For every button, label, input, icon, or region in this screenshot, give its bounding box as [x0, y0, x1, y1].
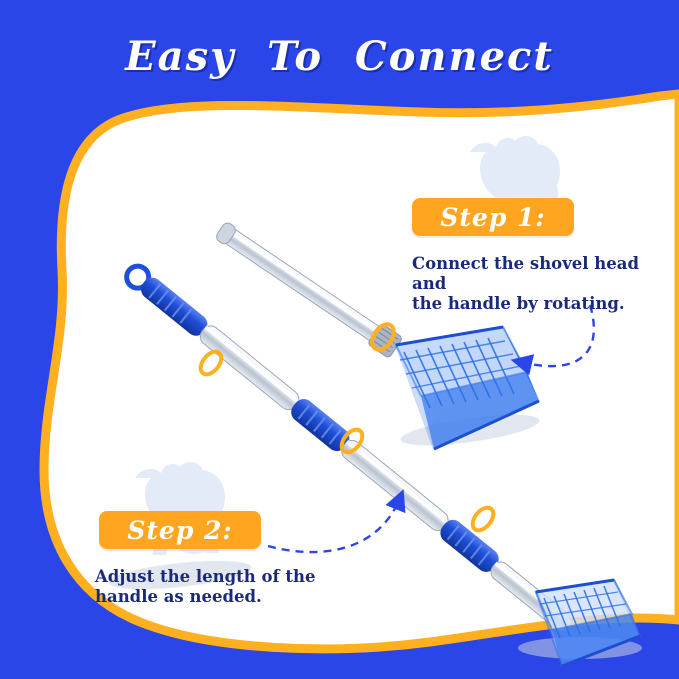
step-1-badge: Step 1:	[412, 198, 574, 236]
page-title: Easy To Connect	[0, 33, 679, 80]
poster-canvas: Easy To Connect Step 1: Connect the shov…	[0, 0, 679, 679]
step-2-caption: Adjust the length of the handle as neede…	[95, 567, 335, 607]
step-2-badge: Step 2:	[99, 511, 261, 549]
step-1-caption: Connect the shovel head and the handle b…	[412, 254, 660, 314]
